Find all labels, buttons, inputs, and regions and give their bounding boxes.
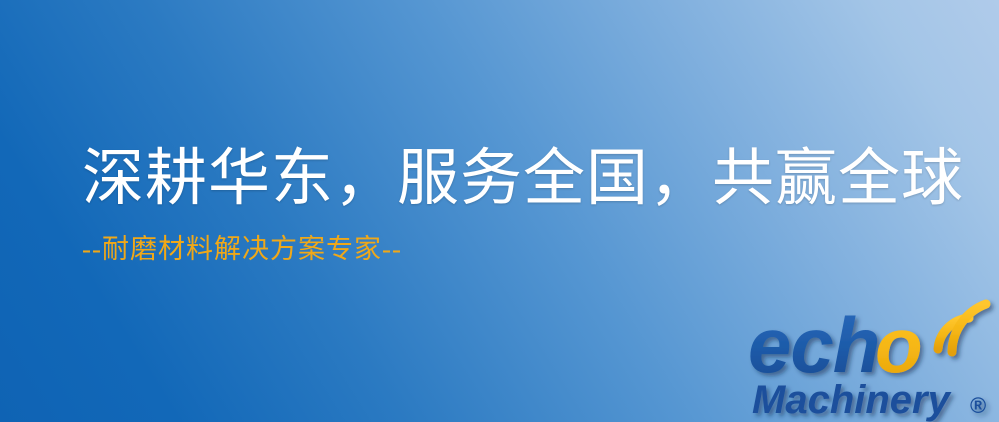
echo-wave-arcs xyxy=(938,304,986,352)
banner-headline: 深耕华东，服务全国，共赢全球 xyxy=(82,148,782,210)
logo-brand-secondary: Machinery xyxy=(752,378,952,422)
logo-brand-primary: ech xyxy=(748,301,879,389)
logo-registered-mark: ® xyxy=(970,393,986,418)
echo-machinery-logo: ech o Machinery ® xyxy=(748,296,999,422)
logo-brand-accent-letter: o xyxy=(875,301,923,389)
logo-artwork: ech o Machinery ® xyxy=(748,296,999,422)
promotional-banner: 深耕华东，服务全国，共赢全球 --耐磨材料解决方案专家-- xyxy=(0,0,999,422)
banner-text-block: 深耕华东，服务全国，共赢全球 --耐磨材料解决方案专家-- xyxy=(82,148,782,263)
banner-subtitle: --耐磨材料解决方案专家-- xyxy=(82,236,782,263)
